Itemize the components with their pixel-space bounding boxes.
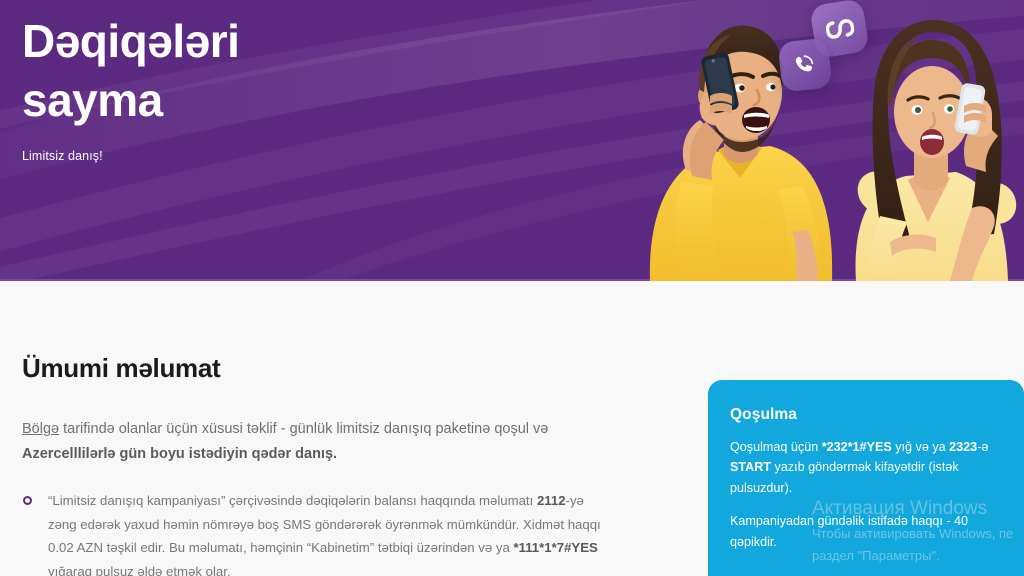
bolge-tariff-link[interactable]: Bölgə (22, 421, 59, 437)
hero-banner: Dəqiqələri sayma Limitsiz danış! (0, 0, 1024, 281)
info-bullet-list: “Limitsiz danışıq kampaniyası” çərçivəsi… (22, 489, 612, 576)
phone-call-icon (792, 52, 818, 78)
intro-text-after-link: tarifində olanlar üçün xüsusi təklif - g… (59, 421, 548, 437)
hero-title-line-2: sayma (22, 74, 163, 126)
bullet-bold-2112: 2112 (537, 493, 566, 508)
qosulma-info-card: Qoşulma Qoşulmaq üçün *232*1#YES yığ və … (708, 380, 1024, 576)
info-card-title: Qoşulma (730, 406, 1002, 424)
card-p1-keyword-start: START (730, 460, 771, 474)
bullet-text-part-1: “Limitsiz danışıq kampaniyası” çərçivəsi… (48, 493, 537, 508)
page-title: Ümumi məlumat (22, 353, 220, 384)
card-p1-part-3: -ə (977, 440, 988, 454)
card-p1-code-232: *232*1#YES (822, 440, 892, 454)
info-card-paragraph-1: Qoşulmaq üçün *232*1#YES yığ və ya 2323-… (730, 437, 1002, 498)
hero-title-line-1: Dəqiqələri (22, 15, 239, 67)
intro-bold-text: Azercelllilərlə gün boyu istədiyin qədər… (22, 446, 337, 462)
bullet-text-part-3: yığaraq pulsuz əldə etmək olar. (48, 564, 231, 576)
list-item: “Limitsiz danışıq kampaniyası” çərçivəsi… (22, 489, 612, 576)
card-p1-shortnumber-2323: 2323 (949, 440, 977, 454)
hero-title: Dəqiqələri sayma (22, 12, 239, 130)
infinity-icon (824, 16, 855, 40)
ring-bullet-icon (23, 496, 32, 505)
hero-subtitle: Limitsiz danış! (22, 149, 239, 163)
card-p1-part-1: Qoşulmaq üçün (730, 440, 822, 454)
call-badge (778, 38, 833, 93)
hero-photo (620, 0, 1024, 281)
bullet-bold-ussd-code: *111*1*7#YES (513, 540, 597, 555)
hero-text-block: Dəqiqələri sayma Limitsiz danış! (22, 12, 239, 163)
card-p1-part-2: yığ və ya (892, 440, 949, 454)
intro-paragraph: Bölgə tarifində olanlar üçün xüsusi təkl… (22, 417, 597, 467)
info-card-paragraph-2: Kampaniyadan gündəlik istifadə haqqı - 4… (730, 511, 1002, 552)
